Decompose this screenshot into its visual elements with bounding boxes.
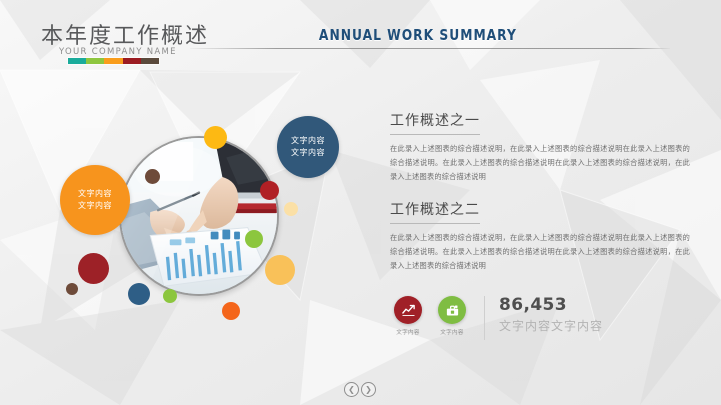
prev-slide-button[interactable]: ❮ (344, 382, 359, 397)
line-chart-icon (394, 296, 422, 324)
slide-root: 本年度工作概述 YOUR COMPANY NAME ANNUAL WORK SU… (0, 0, 721, 405)
section-one-body: 在此录入上述图表的综合描述说明，在此录入上述图表的综合描述说明在此录入上述图表的… (390, 142, 690, 184)
section-two-body: 在此录入上述图表的综合描述说明，在此录入上述图表的综合描述说明在此录入上述图表的… (390, 231, 690, 273)
color-swatch-teal (68, 58, 86, 64)
bubble-blue-label[interactable]: 文字内容 文字内容 (277, 116, 339, 178)
bubble-cream-right (284, 202, 298, 216)
stats-row: 文字内容 文字内容 86,453 文字内容文字内容 (390, 296, 603, 340)
title-english: ANNUAL WORK SUMMARY (65, 26, 656, 44)
next-slide-button[interactable]: ❯ (361, 382, 376, 397)
bubble-brown-mid (145, 169, 160, 184)
brand-color-bar (68, 58, 159, 64)
bubble-darkred-right (260, 181, 279, 200)
company-name-label: YOUR COMPANY NAME (59, 47, 177, 57)
line-chart-glyph (401, 303, 416, 318)
bubble-amber-right (265, 255, 295, 285)
bubble-brown-left (66, 283, 78, 295)
stat-number: 86,453 (499, 296, 603, 315)
bubble-blue-label-line1: 文字内容 (291, 135, 325, 147)
stat-icon-chart[interactable]: 文字内容 (390, 296, 426, 336)
header-divider-rule (190, 48, 670, 49)
bubble-orange-label-line2: 文字内容 (78, 200, 112, 212)
bubble-blue-label-line2: 文字内容 (291, 147, 325, 159)
bubble-orange-label[interactable]: 文字内容 文字内容 (60, 165, 130, 235)
color-swatch-orange (104, 58, 122, 64)
stats-divider (484, 296, 485, 340)
stat-icon-briefcase-label: 文字内容 (434, 328, 470, 336)
color-swatch-brown (141, 58, 159, 64)
photo-circle (119, 136, 279, 296)
slide-navigation: ❮ ❯ (344, 382, 376, 397)
slide-header: 本年度工作概述 YOUR COMPANY NAME ANNUAL WORK SU… (0, 0, 721, 72)
business-photo (121, 138, 277, 294)
bubble-darkred-left (78, 253, 109, 284)
bubble-orange-label-line1: 文字内容 (78, 188, 112, 200)
stat-caption: 文字内容文字内容 (499, 317, 603, 334)
briefcase-icon (438, 296, 466, 324)
section-two-heading: 工作概述之二 (390, 199, 480, 224)
section-two: 工作概述之二 在此录入上述图表的综合描述说明，在此录入上述图表的综合描述说明在此… (390, 199, 690, 273)
bubble-green-right (245, 230, 263, 248)
bubble-orange-bottom (222, 302, 240, 320)
briefcase-glyph (445, 303, 460, 318)
color-swatch-green (86, 58, 104, 64)
color-swatch-red (123, 58, 141, 64)
stats-text-block: 86,453 文字内容文字内容 (499, 296, 603, 334)
section-one: 工作概述之一 在此录入上述图表的综合描述说明，在此录入上述图表的综合描述说明在此… (390, 110, 690, 184)
bubble-green-small (163, 289, 177, 303)
stat-icon-chart-label: 文字内容 (390, 328, 426, 336)
bubble-steel-bottom (128, 283, 150, 305)
bubble-yellow-top (204, 126, 227, 149)
section-one-heading: 工作概述之一 (390, 110, 480, 135)
stat-icon-briefcase[interactable]: 文字内容 (434, 296, 470, 336)
